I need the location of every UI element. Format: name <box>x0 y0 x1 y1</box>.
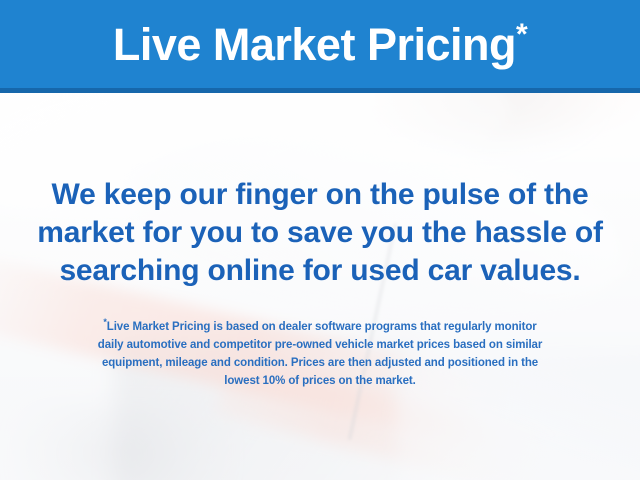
disclaimer-block: *Live Market Pricing is based on dealer … <box>0 318 640 390</box>
headline-block: We keep our finger on the pulse of the m… <box>0 176 640 290</box>
headline-line-1: We keep our finger on the pulse of the <box>0 176 640 214</box>
headline-line-2: market for you to save you the hassle of <box>0 214 640 252</box>
disclaimer-line-1: *Live Market Pricing is based on dealer … <box>20 318 620 336</box>
page-title: Live Market Pricing* <box>113 22 527 71</box>
headline-line-3: searching online for used car values. <box>0 252 640 290</box>
banner-bottom-rule <box>0 88 640 93</box>
disclaimer-line-4: lowest 10% of prices on the market. <box>20 372 620 390</box>
disclaimer-line-2: daily automotive and competitor pre-owne… <box>20 336 620 354</box>
disclaimer-line-1-text: Live Market Pricing is based on dealer s… <box>107 321 537 333</box>
page-title-asterisk: * <box>516 18 527 51</box>
page-title-text: Live Market Pricing <box>113 19 516 70</box>
live-market-pricing-slide: Live Market Pricing* We keep our finger … <box>0 0 640 480</box>
header-banner: Live Market Pricing* <box>0 0 640 93</box>
disclaimer-line-3: equipment, mileage and condition. Prices… <box>20 354 620 372</box>
